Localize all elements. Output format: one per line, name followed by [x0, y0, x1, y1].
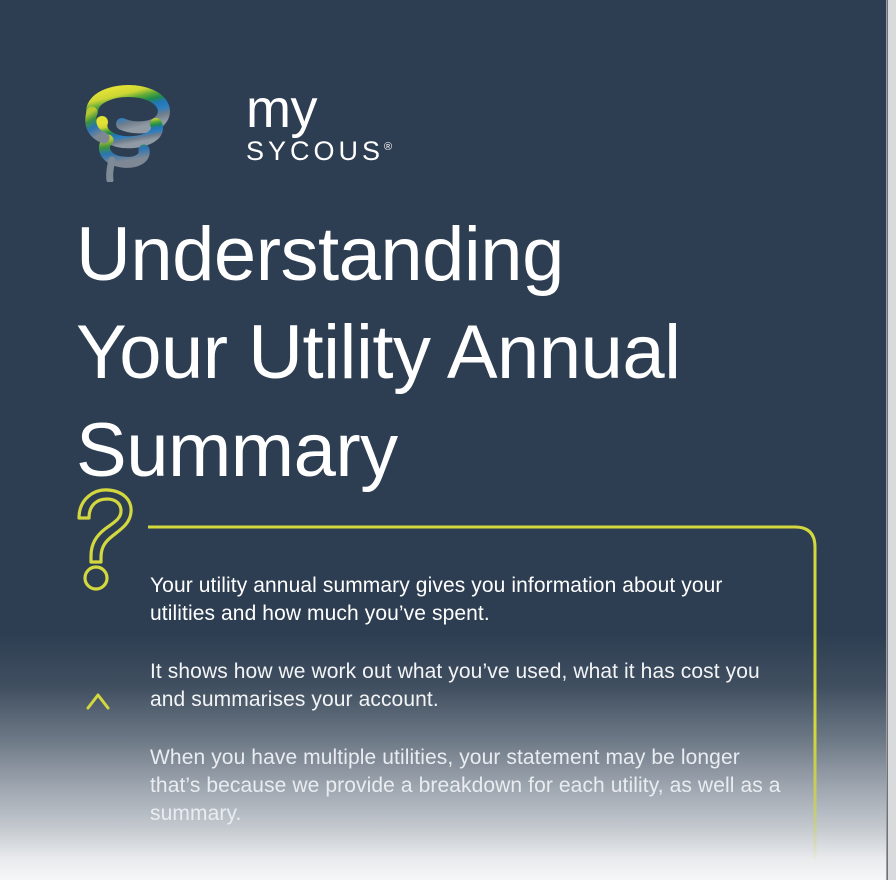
page-title-line-1: Understanding: [76, 206, 836, 304]
page-title: Understanding Your Utility Annual Summar…: [76, 206, 836, 500]
scrollbar-thumb[interactable]: [888, 0, 896, 880]
intro-paragraph-2: It shows how we work out what you’ve use…: [150, 658, 790, 714]
page-title-line-3: Summary: [76, 402, 836, 500]
page-title-line-2: Your Utility Annual: [76, 304, 836, 402]
registered-trademark-icon: ®: [384, 141, 392, 153]
brand-word-my: my: [246, 82, 317, 136]
brand-logo[interactable]: my SYCOUS®: [78, 76, 378, 184]
intro-paragraph-3: When you have multiple utilities, your s…: [150, 744, 790, 828]
content-pane: my SYCOUS® Understanding Your Utility An…: [0, 0, 886, 880]
brand-word-sycous: SYCOUS®: [246, 138, 392, 165]
arrow-up-icon: [88, 695, 108, 862]
brand-wordmark: my SYCOUS®: [174, 76, 384, 182]
document-page: my SYCOUS® Understanding Your Utility An…: [0, 0, 896, 880]
intro-body-copy: Your utility annual summary gives you in…: [150, 572, 790, 828]
sycous-spiral-logo-icon: [78, 76, 174, 182]
vertical-scrollbar[interactable]: [886, 0, 896, 880]
brand-word-sycous-text: SYCOUS: [246, 136, 384, 166]
intro-paragraph-1: Your utility annual summary gives you in…: [150, 572, 790, 628]
question-mark-outline-icon: [79, 490, 131, 589]
